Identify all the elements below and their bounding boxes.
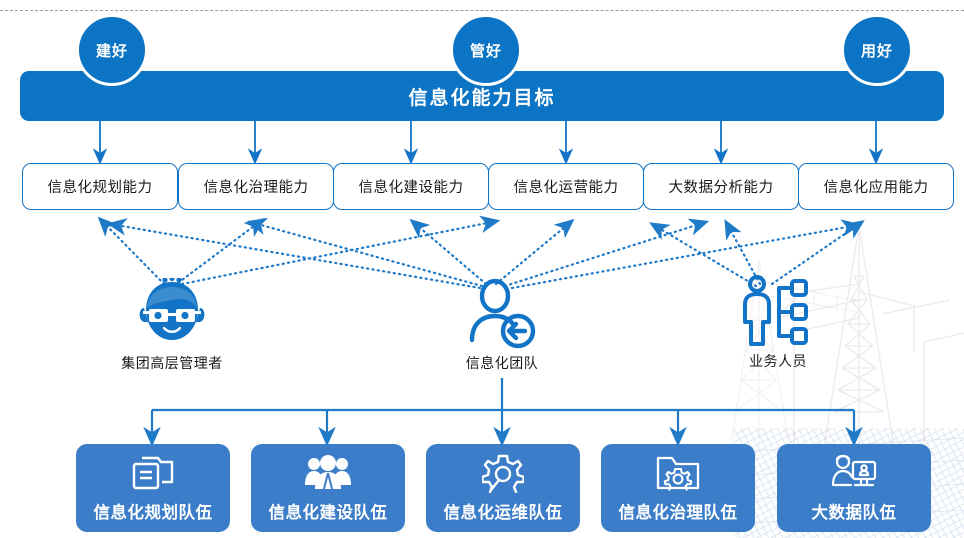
team-box-governance[interactable]: 信息化治理队伍 [601,444,755,532]
role-executive[interactable]: 集团高层管理者 [97,278,247,373]
dotted-team-to-construction [412,221,486,284]
dotted-team-to-governance [250,222,482,286]
folder-gear-icon [656,453,700,493]
person-at-computer-icon [831,453,877,493]
capability-label: 信息化规划能力 [48,176,153,197]
team-label: 信息化建设队伍 [269,499,388,523]
people-group-icon [305,453,351,493]
dotted-team-to-operation [496,221,572,284]
capability-box-governance[interactable]: 信息化治理能力 [178,163,334,210]
pill-label: 用好 [861,40,893,61]
team-box-construction[interactable]: 信息化建设队伍 [251,444,405,532]
executive-face-glasses-icon [97,278,247,350]
pill-label: 建好 [96,40,128,61]
dotted-exec-to-ops [182,221,497,284]
role-business-staff[interactable]: 业务人员 [703,276,853,371]
top-dashed-divider [0,10,964,11]
capability-box-bigdata[interactable]: 大数据分析能力 [643,163,799,210]
team-label: 大数据队伍 [812,499,897,523]
dotted-exec-to-governance [174,220,262,286]
gear-wrench-icon [482,453,524,493]
capability-box-planning[interactable]: 信息化规划能力 [22,163,178,210]
person-org-chart-icon [703,276,853,348]
capability-label: 信息化应用能力 [824,176,929,197]
team-label: 信息化规划队伍 [94,499,213,523]
pill-yonghao[interactable]: 用好 [841,14,913,86]
role-label: 业务人员 [703,351,853,371]
capability-label: 信息化运营能力 [514,176,619,197]
person-with-arrow-icon [427,278,577,350]
capability-box-construction[interactable]: 信息化建设能力 [333,163,489,210]
pill-label: 管好 [470,40,502,61]
team-box-planning[interactable]: 信息化规划队伍 [76,444,230,532]
dotted-team-to-bigdata [505,222,706,286]
pill-jianhao[interactable]: 建好 [76,14,148,86]
team-box-bigdata[interactable]: 大数据队伍 [777,444,931,532]
role-label: 信息化团队 [427,353,577,373]
capability-label: 信息化治理能力 [204,176,309,197]
role-it-team[interactable]: 信息化团队 [427,278,577,373]
diagram-canvas: 信息化能力目标 建好 管好 用好 信息化规划能力 信息化治理能力 信息化建设能力… [0,0,964,538]
capability-box-application[interactable]: 信息化应用能力 [798,163,954,210]
capability-box-operation[interactable]: 信息化运营能力 [488,163,644,210]
documents-stack-icon [132,453,174,493]
pill-guanhao[interactable]: 管好 [450,14,522,86]
role-label: 集团高层管理者 [97,353,247,373]
team-label: 信息化运维队伍 [444,499,563,523]
capability-label: 信息化建设能力 [359,176,464,197]
team-label: 信息化治理队伍 [619,499,738,523]
team-box-operation[interactable]: 信息化运维队伍 [426,444,580,532]
goal-title: 信息化能力目标 [408,83,555,110]
capability-label: 大数据分析能力 [669,176,774,197]
